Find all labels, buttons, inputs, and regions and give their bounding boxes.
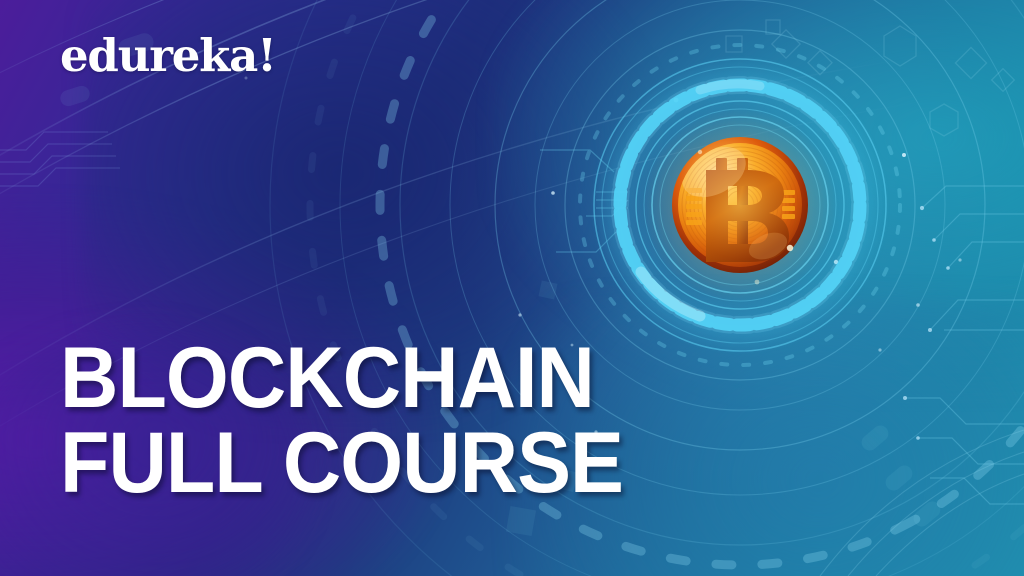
- thumbnail-canvas: edureka! BLOCKCHAIN FULL COURSE: [0, 0, 1024, 576]
- edureka-logo[interactable]: edureka!: [60, 33, 276, 78]
- coin-glow: [642, 107, 838, 303]
- title-line-1: BLOCKCHAIN: [60, 336, 623, 421]
- title-line-2: FULL COURSE: [60, 421, 623, 506]
- page-title: BLOCKCHAIN FULL COURSE: [60, 336, 623, 506]
